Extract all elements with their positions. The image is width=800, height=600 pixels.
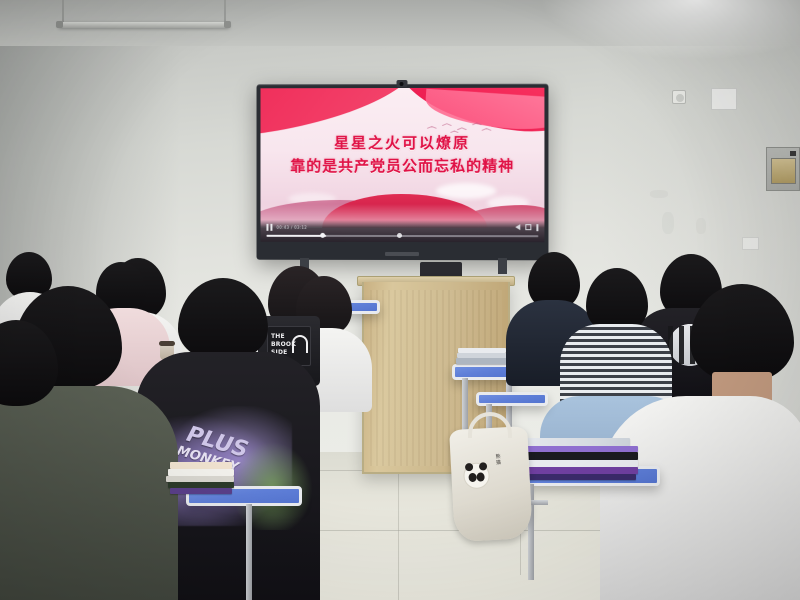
wall-control-panel[interactable] [766,147,800,191]
panel-face [771,158,796,184]
cup-lid [159,341,175,346]
book [522,467,638,474]
book [170,462,232,469]
settings-icon[interactable] [525,224,531,230]
display-screen[interactable]: 星星之火可以燎原 靠的是共产党员公而忘私的精神 00:43 / 03:12 [260,88,544,243]
wall-scuff-b [662,212,674,234]
book [520,460,638,467]
player-time-display: 00:43 / 03:12 [276,224,307,229]
display-mount-right [498,258,507,274]
backpack-brand-line-2: BROOK [271,342,296,348]
wall-scuff-c [696,218,706,234]
wall-notice-paper [711,88,737,110]
speaker-icon[interactable] [515,224,520,230]
book [170,488,232,494]
player-chapter-marker[interactable] [397,233,402,238]
ceiling-light-glow [540,0,800,60]
camera-icon [397,80,408,87]
book [524,474,636,480]
cloud-1 [436,183,496,199]
panel-indicator-led [790,151,796,156]
floor-tile-line-3 [398,455,399,600]
canvas-tote-bag: 熊猫 [449,426,533,542]
slide-title-block: 星星之火可以燎原 靠的是共产党员公而忘私的精神 [260,134,544,176]
player-progress-bar[interactable] [266,235,538,237]
brand-logo [385,252,419,256]
slide-headline-line-1: 星星之火可以燎原 [260,134,544,153]
desk-leg [246,504,252,600]
book [168,469,234,476]
classroom-scene: 星星之火可以燎原 靠的是共产党员公而忘私的精神 00:43 / 03:12 [0,0,800,600]
backpack-brand-line-1: THE [271,334,285,340]
book [518,438,630,446]
pause-icon[interactable] [266,223,272,230]
player-progress-fill [266,235,326,237]
presentation-slide: 星星之火可以燎原 靠的是共产党员公而忘私的精神 00:43 / 03:12 [260,88,544,243]
fullscreen-icon[interactable] [536,224,538,231]
wall-sticker-small [742,237,759,250]
slide-headline-line-2: 靠的是共产党员公而忘私的精神 [260,156,544,176]
book [520,452,638,460]
interactive-flat-panel-display[interactable]: 星星之火可以燎原 靠的是共产党员公而忘私的精神 00:43 / 03:12 [257,84,549,261]
player-progress-knob[interactable] [321,233,326,238]
video-player-controls[interactable]: 00:43 / 03:12 [260,220,544,242]
panda-face-icon [463,462,490,489]
wall-socket [672,90,686,104]
slide-wave-left [260,88,427,137]
wall-scuff-a [650,190,668,198]
book [456,358,508,364]
tote-text: 熊猫 [494,453,502,465]
